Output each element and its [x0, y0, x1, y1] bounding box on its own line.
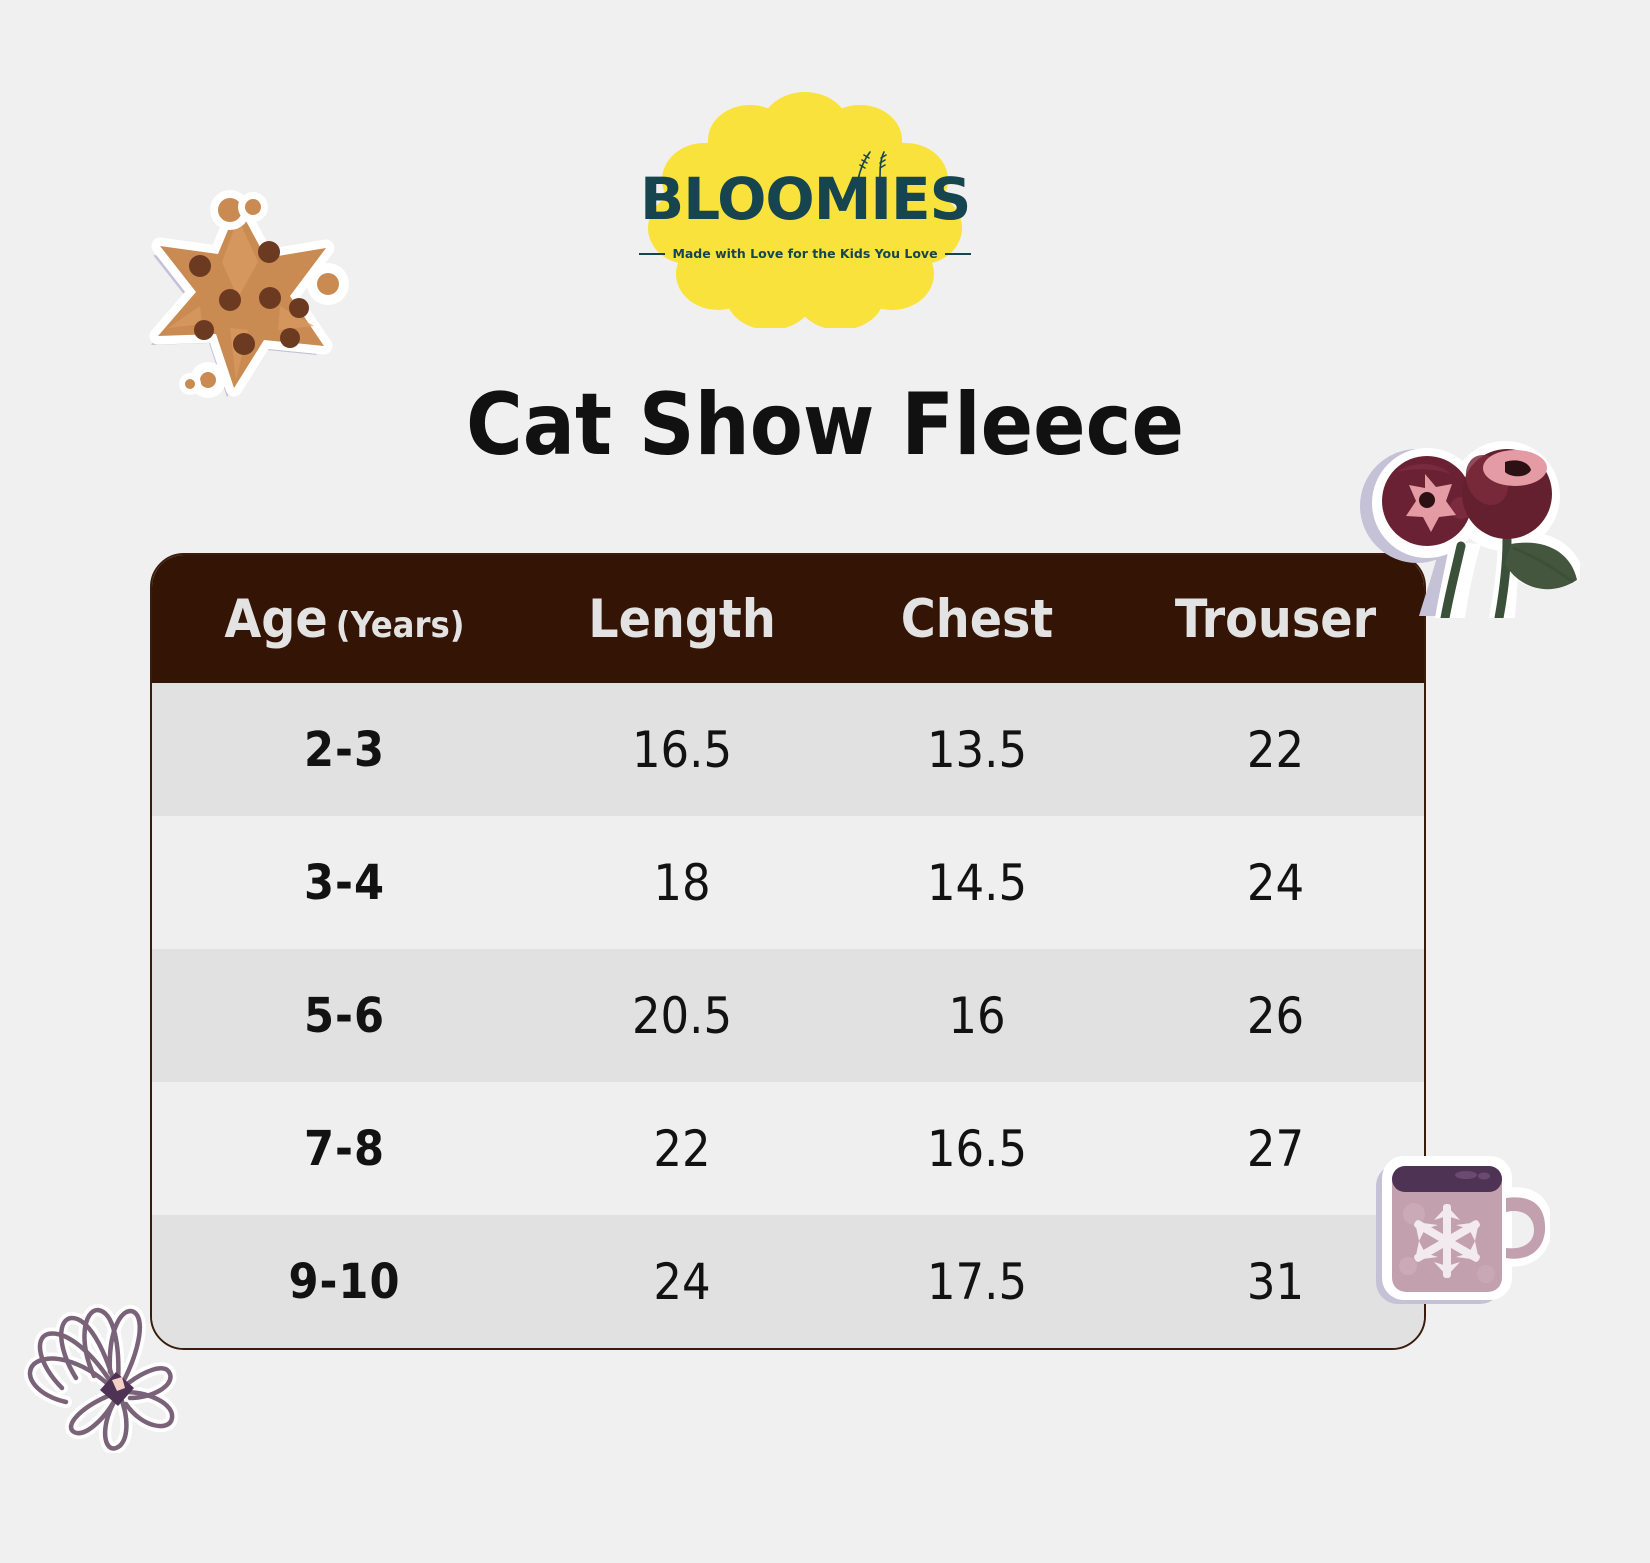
cell-chest: 13.5	[827, 721, 1127, 779]
cell-age: 7-8	[152, 1121, 537, 1177]
cell-chest: 17.5	[827, 1253, 1127, 1311]
cell-age: 2-3	[152, 722, 537, 778]
cell-trouser: 24	[1127, 854, 1424, 912]
cell-age: 3-4	[152, 855, 537, 911]
column-header-age: Age(Years)	[152, 589, 537, 650]
cell-length: 22	[537, 1120, 827, 1178]
tagline-dash-right	[945, 253, 971, 255]
brand-tagline-row: Made with Love for the Kids You Love	[640, 246, 970, 261]
cell-trouser: 26	[1127, 987, 1424, 1045]
cell-trouser: 22	[1127, 721, 1424, 779]
cell-length: 20.5	[537, 987, 827, 1045]
table-header-row: Age(Years) Length Chest Trouser	[152, 555, 1424, 683]
brand-logo: BLOOMIES Made with Love for the Kids You…	[640, 88, 970, 328]
table-row: 2-3 16.5 13.5 22	[152, 683, 1424, 816]
star-cookie-sticker	[138, 188, 353, 403]
table-row: 3-4 18 14.5 24	[152, 816, 1424, 949]
cell-length: 16.5	[537, 721, 827, 779]
cell-chest: 16.5	[827, 1120, 1127, 1178]
cell-age: 5-6	[152, 988, 537, 1044]
cell-chest: 14.5	[827, 854, 1127, 912]
brand-tagline: Made with Love for the Kids You Love	[672, 246, 937, 261]
cell-length: 18	[537, 854, 827, 912]
table-row: 9-10 24 17.5 31	[152, 1215, 1424, 1348]
mug-sticker	[1370, 1148, 1550, 1308]
berries-sticker	[1355, 438, 1580, 618]
column-header-age-sub: (Years)	[336, 605, 465, 646]
column-header-chest: Chest	[827, 589, 1127, 650]
column-header-age-label: Age	[224, 589, 327, 650]
cell-chest: 16	[827, 987, 1127, 1045]
table-row: 5-6 20.5 16 26	[152, 949, 1424, 1082]
brand-name: BLOOMIES	[640, 170, 970, 228]
whisk-sticker	[18, 1268, 213, 1453]
tagline-dash-left	[639, 253, 665, 255]
size-chart-table: Age(Years) Length Chest Trouser 2-3 16.5…	[150, 553, 1426, 1350]
column-header-length: Length	[537, 589, 827, 650]
cell-length: 24	[537, 1253, 827, 1311]
table-row: 7-8 22 16.5 27	[152, 1082, 1424, 1215]
